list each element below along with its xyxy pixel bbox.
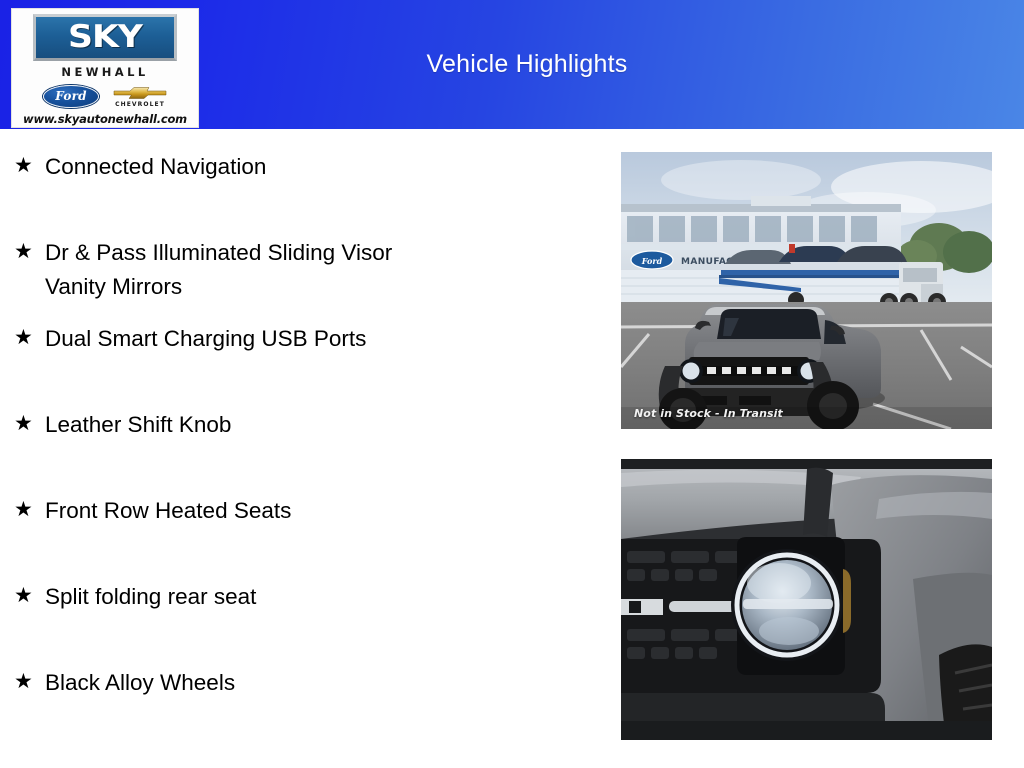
star-icon: ★ (14, 236, 45, 266)
chevrolet-logo-label: CHEVROLET (115, 101, 165, 108)
stock-status-caption: Not in Stock - In Transit (634, 407, 783, 420)
star-icon: ★ (14, 150, 45, 180)
vehicle-exterior-image: Ford MANUFACTURING (621, 152, 992, 429)
list-item-label: Connected Navigation (45, 150, 266, 184)
vehicle-exterior-photo[interactable]: Ford MANUFACTURING (621, 152, 992, 429)
list-item-label: Front Row Heated Seats (45, 494, 291, 528)
dealer-website-url[interactable]: www.skyautonewhall.com (23, 112, 187, 126)
list-item: ★ Leather Shift Knob (0, 408, 600, 494)
vehicle-highlights-list: ★ Connected Navigation ★ Dr & Pass Illum… (0, 150, 600, 752)
oem-brand-row: Ford CHEVROLET (12, 83, 198, 109)
list-item: ★ Black Alloy Wheels (0, 666, 600, 752)
vehicle-headlight-photo[interactable] (621, 459, 992, 740)
star-icon: ★ (14, 408, 45, 438)
sky-brand-label: SKY (68, 22, 142, 53)
star-icon: ★ (14, 494, 45, 524)
list-item-label: Leather Shift Knob (45, 408, 231, 442)
chevrolet-bowtie-icon (113, 85, 167, 100)
dealer-location-label: NEWHALL (61, 65, 148, 79)
sky-brand-badge: SKY (33, 14, 177, 61)
list-item: ★ Dual Smart Charging USB Ports (0, 322, 600, 408)
star-icon: ★ (14, 580, 45, 610)
list-item: ★ Dr & Pass Illuminated Sliding Visor Va… (0, 236, 600, 322)
list-item-label: Split folding rear seat (45, 580, 256, 614)
star-icon: ★ (14, 322, 45, 352)
ford-logo-icon: Ford (43, 85, 99, 108)
star-icon: ★ (14, 666, 45, 696)
list-item-label: Dual Smart Charging USB Ports (45, 322, 366, 356)
list-item-label: Black Alloy Wheels (45, 666, 235, 700)
svg-text:Ford: Ford (641, 256, 663, 266)
list-item: ★ Front Row Heated Seats (0, 494, 600, 580)
vehicle-headlight-image (621, 459, 992, 740)
dealer-logo[interactable]: SKY NEWHALL Ford CHEVROLET www.sky (11, 8, 199, 128)
list-item: ★ Split folding rear seat (0, 580, 600, 666)
list-item: ★ Connected Navigation (0, 150, 600, 236)
chevrolet-logo-icon: CHEVROLET (113, 85, 167, 108)
list-item-label: Dr & Pass Illuminated Sliding Visor Vani… (45, 236, 392, 304)
ford-logo-label: Ford (55, 89, 86, 103)
